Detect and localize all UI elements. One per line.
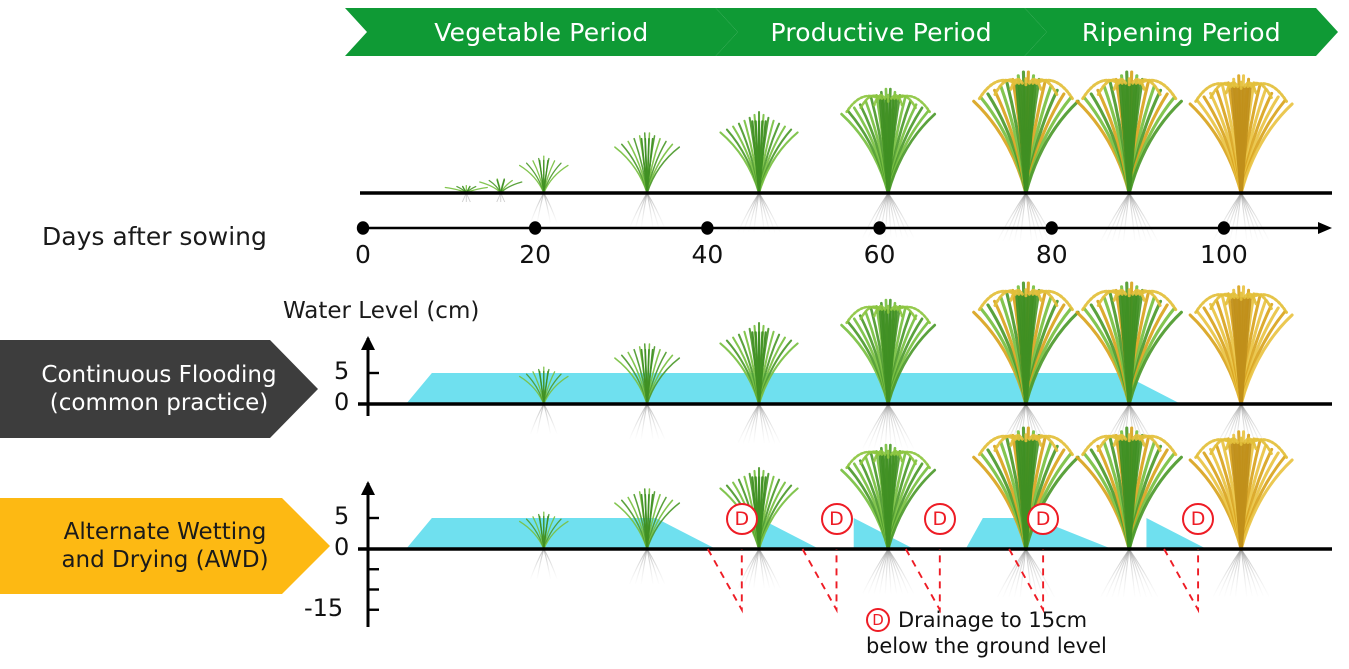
rice-plant [520,156,568,223]
axis-tick-dot [873,221,885,235]
growth-timeline-row [357,72,1332,241]
drainage-marker-5: D [1182,503,1214,535]
rice-plant [1077,283,1181,452]
rice-plant [974,428,1078,597]
axis-tick-dot [1046,221,1058,235]
water-level-axis-label: Water Level (cm) [283,298,479,324]
period-label-3: Ripening Period [1025,8,1338,56]
awd-banner-line2: and Drying (AWD) [61,546,268,574]
drainage-marker-3: D [924,503,956,535]
rice-plant [974,283,1078,452]
drainage-line [803,549,837,610]
tick-label-40: 40 [667,240,747,269]
awd-axis-value--15: -15 [304,594,343,622]
continuous-flooding-row [358,283,1332,452]
drainage-marker-2: D [821,503,853,535]
period-label-1: Vegetable Period [345,8,738,56]
cf-axis-value-5: 5 [334,357,349,385]
days-after-sowing-label: Days after sowing [42,222,267,251]
legend-line-1: Drainage to 15cm [898,608,1087,632]
drainage-line [1164,549,1198,610]
drainage-line [906,549,940,610]
axis-tick-dot [529,221,541,235]
awd-banner-line1: Alternate Wetting [64,518,267,546]
legend-line-2: below the ground level [866,634,1166,658]
awd-axis-value-0: 0 [334,533,349,561]
drainage-badge-icon: D [866,608,890,632]
rice-plant [1077,428,1181,597]
axis-tick-dot [1218,221,1230,235]
rice-plant [974,72,1078,241]
awd-axis-value-5: 5 [334,502,349,530]
awd-banner: Alternate Wetting and Drying (AWD) [0,498,330,594]
rice-plant [842,89,935,237]
rice-plant [1077,72,1181,241]
cf-banner-line1: Continuous Flooding [41,361,276,389]
day-axis-arrow [1318,222,1332,234]
period-label-group: Vegetable PeriodProductive PeriodRipenin… [345,8,1338,56]
axis-tick-dot [701,221,713,235]
continuous-flooding-banner: Continuous Flooding (common practice) [0,340,318,438]
tick-label-60: 60 [840,240,920,269]
drainage-line [708,549,742,610]
tick-label-80: 80 [1012,240,1092,269]
rice-plant [720,112,797,232]
tick-label-20: 20 [495,240,575,269]
rice-plant [1190,76,1292,240]
tick-label-0: 0 [323,240,403,269]
drainage-marker-4: D [1027,503,1059,535]
cf-banner-line2: (common practice) [50,389,268,417]
water-axis-arrow [361,336,375,350]
drainage-legend: D Drainage to 15cm below the ground leve… [866,608,1166,658]
rice-plant [1190,287,1292,451]
rice-plant [480,179,522,202]
drainage-marker-1: D [726,503,758,535]
rice-plant [615,133,679,228]
awd-water-segment [406,518,716,549]
water-axis-arrow [361,481,375,495]
tick-label-100: 100 [1184,240,1264,269]
period-label-2: Productive Period [716,8,1047,56]
axis-tick-dot [357,221,369,235]
cf-axis-value-0: 0 [334,388,349,416]
